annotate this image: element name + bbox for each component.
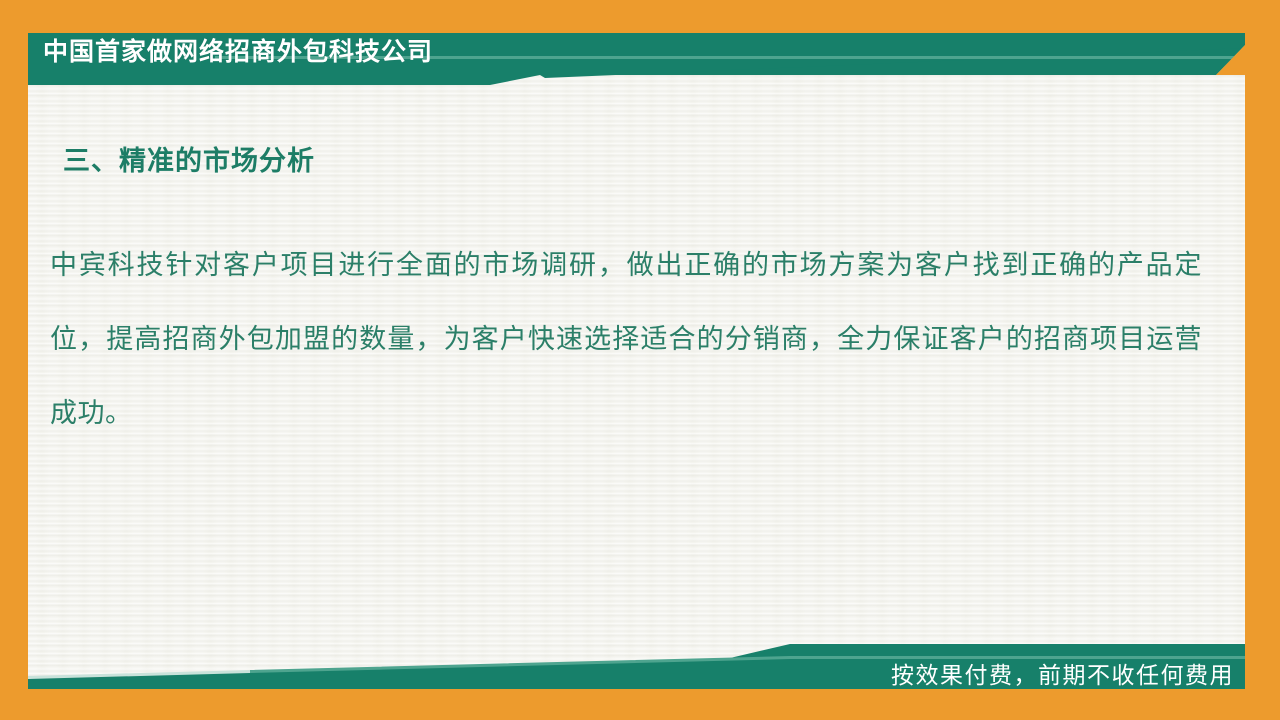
slide-body: 三、精准的市场分析 中宾科技针对客户项目进行全面的市场调研，做出正确的市场方案为… — [28, 33, 1245, 688]
slide-content-area: 三、精准的市场分析 中宾科技针对客户项目进行全面的市场调研，做出正确的市场方案为… — [28, 33, 1245, 688]
body-paragraph: 中宾科技针对客户项目进行全面的市场调研，做出正确的市场方案为客户找到正确的产品定… — [50, 229, 1202, 451]
section-heading: 三、精准的市场分析 — [63, 139, 315, 178]
slide-root: 三、精准的市场分析 中宾科技针对客户项目进行全面的市场调研，做出正确的市场方案为… — [0, 0, 1280, 720]
